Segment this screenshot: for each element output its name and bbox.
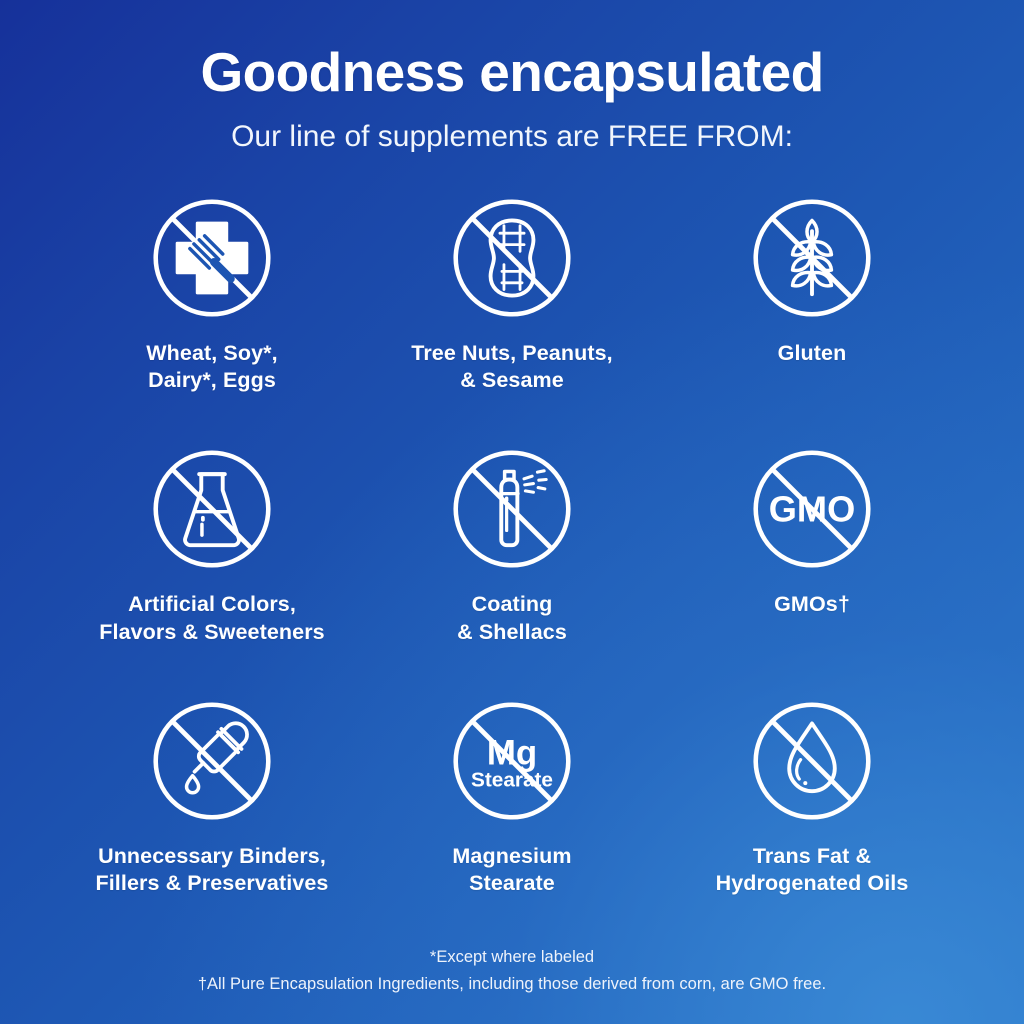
- free-from-item-gluten: Gluten: [662, 191, 962, 368]
- gmo-icon-text: GMO: [769, 489, 855, 530]
- item-label: Wheat, Soy*, Dairy*, Eggs: [146, 340, 277, 395]
- no-gmo-text-icon: GMO: [745, 442, 879, 576]
- footnote-except-where-labeled: *Except where labeled: [0, 945, 1024, 971]
- no-allergen-cross-fork-icon: [145, 191, 279, 325]
- footnote-gmo-free: †All Pure Encapsulation Ingredients, inc…: [0, 972, 1024, 998]
- free-from-item-artificial: Artificial Colors, Flavors & Sweeteners: [62, 442, 362, 646]
- header: Goodness encapsulated Our line of supple…: [0, 0, 1024, 155]
- free-from-item-coating: Coating & Shellacs: [362, 442, 662, 646]
- item-label: Artificial Colors, Flavors & Sweeteners: [99, 591, 324, 646]
- item-label: Coating & Shellacs: [457, 591, 567, 646]
- page-subtitle: Our line of supplements are FREE FROM:: [0, 119, 1024, 155]
- infographic-poster: Goodness encapsulated Our line of supple…: [0, 0, 1024, 1024]
- free-from-item-gmo: GMO GMOs†: [662, 442, 962, 619]
- no-oil-droplet-icon: [745, 694, 879, 828]
- free-from-item-allergens: Wheat, Soy*, Dairy*, Eggs: [62, 191, 362, 395]
- no-peanut-icon: [445, 191, 579, 325]
- item-label: Tree Nuts, Peanuts, & Sesame: [411, 340, 612, 395]
- item-label: Gluten: [778, 340, 847, 368]
- no-dropper-pipette-icon: [145, 694, 279, 828]
- no-flask-icon: [145, 442, 279, 576]
- item-label: Trans Fat & Hydrogenated Oils: [716, 843, 909, 898]
- no-magnesium-stearate-text-icon: Mg Stearate: [445, 694, 579, 828]
- no-wheat-stalk-icon: [745, 191, 879, 325]
- mg-icon-text: Mg: [487, 733, 537, 772]
- footnotes: *Except where labeled †All Pure Encapsul…: [0, 945, 1024, 1024]
- page-title: Goodness encapsulated: [0, 44, 1024, 102]
- free-from-grid: Wheat, Soy*, Dairy*, Eggs: [62, 155, 962, 945]
- no-spray-can-icon: [445, 442, 579, 576]
- free-from-item-binders: Unnecessary Binders, Fillers & Preservat…: [62, 694, 362, 898]
- free-from-item-trans-fat: Trans Fat & Hydrogenated Oils: [662, 694, 962, 898]
- item-label: Magnesium Stearate: [452, 843, 571, 898]
- item-label: Unnecessary Binders, Fillers & Preservat…: [96, 843, 329, 898]
- free-from-item-nuts: Tree Nuts, Peanuts, & Sesame: [362, 191, 662, 395]
- stearate-icon-text: Stearate: [471, 768, 553, 791]
- free-from-item-magnesium-stearate: Mg Stearate Magnesium Stearate: [362, 694, 662, 898]
- item-label: GMOs†: [774, 591, 850, 619]
